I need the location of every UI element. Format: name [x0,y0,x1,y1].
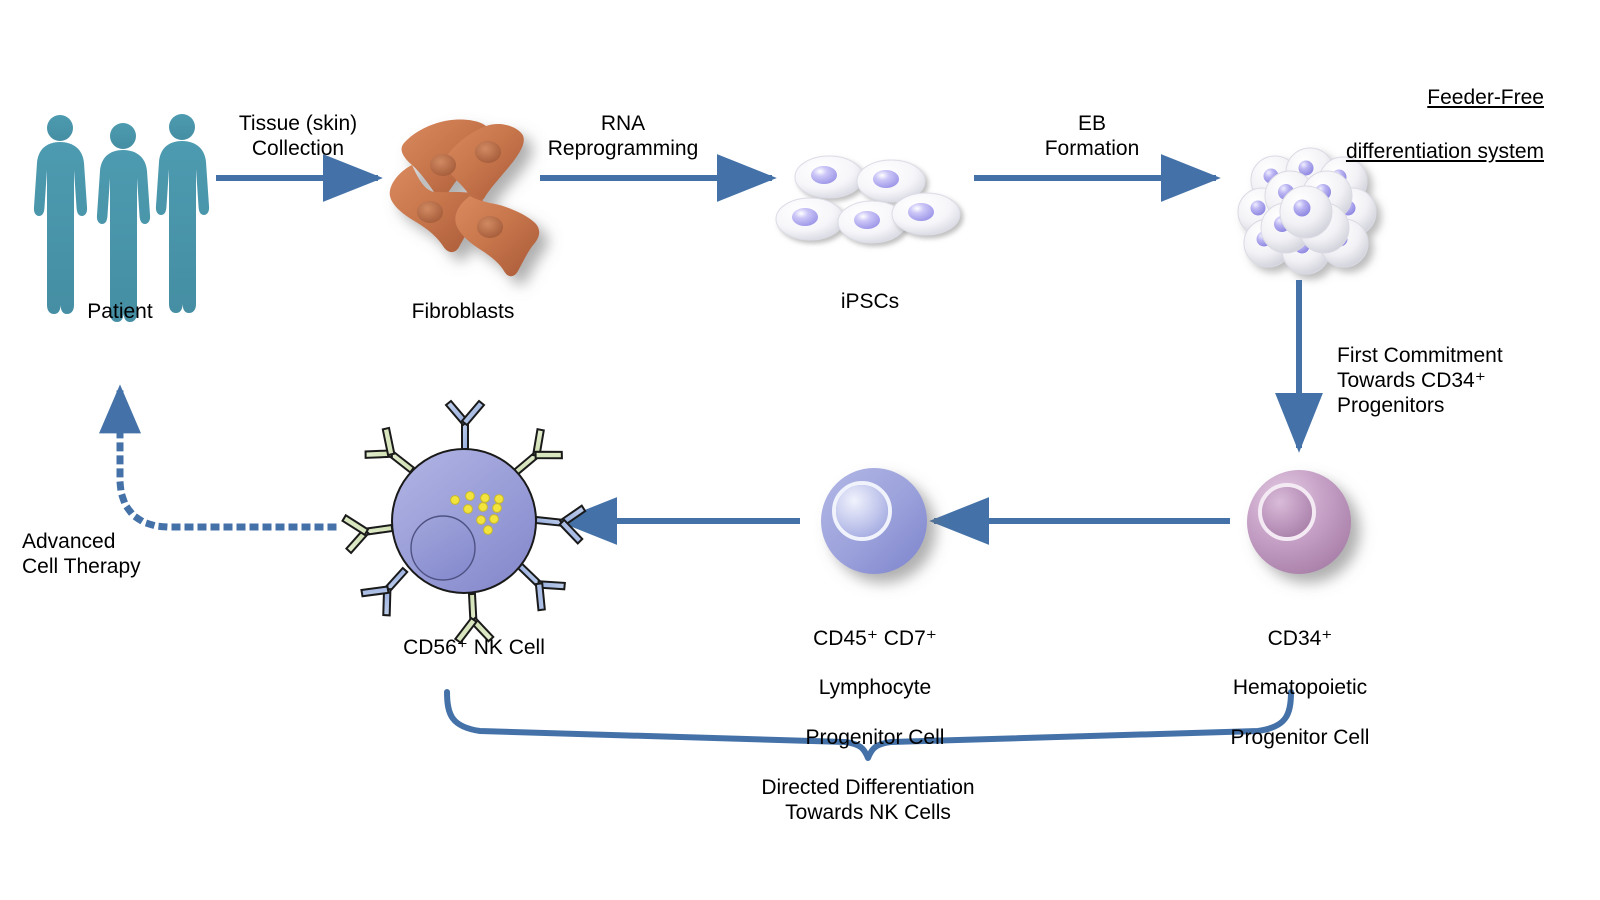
nk-cell-icon [342,401,586,643]
fibroblast-cells-icon [390,119,539,276]
lymphoid-label-line-1: CD45⁺ CD7⁺ [760,627,990,652]
lymphoid-label-line-3: Progenitor Cell [760,726,990,751]
cd34-label-line-2: Hematopoietic [1185,676,1415,701]
ipsc-colony-icon [776,156,960,243]
feeder-free-line-1: Feeder-Free [1346,85,1544,112]
cell-label-cd34: CD34⁺ Hematopoietic Progenitor Cell [1185,602,1415,775]
cd34-label-line-1: CD34⁺ [1185,627,1415,652]
cell-label-patient: Patient [40,300,200,325]
patient-figures-icon [34,114,209,322]
step-label-first-commitment: First Commitment Towards CD34⁺ Progenito… [1337,344,1567,418]
lymphocyte-progenitor-cell-icon [821,468,927,574]
diagram-canvas: Feeder-Free differentiation system Tissu… [0,0,1600,900]
step-label-advanced-cell-therapy: Advanced Cell Therapy [22,530,242,580]
cell-label-fibroblasts: Fibroblasts [378,300,548,325]
cell-label-lymphoid: CD45⁺ CD7⁺ Lymphocyte Progenitor Cell [760,602,990,775]
cell-label-ipscs: iPSCs [790,290,950,315]
step-label-eb-formation: EB Formation [1002,112,1182,162]
feeder-free-line-2: differentiation system [1346,139,1544,166]
step-label-tissue-collection: Tissue (skin) Collection [218,112,378,162]
step-label-rna-reprogramming: RNA Reprogramming [533,112,713,162]
arrow-advanced-cell-therapy [120,390,333,527]
step-label-directed-differentiation: Directed Differentiation Towards NK Cell… [618,776,1118,826]
feeder-free-note: Feeder-Free differentiation system [1346,58,1544,192]
nk-granules [451,492,504,535]
cd34-progenitor-cell-icon [1247,470,1351,574]
nk-receptors [342,401,586,643]
cd34-label-line-3: Progenitor Cell [1185,726,1415,751]
cell-label-nk: CD56⁺ NK Cell [364,636,584,661]
lymphoid-label-line-2: Lymphocyte [760,676,990,701]
